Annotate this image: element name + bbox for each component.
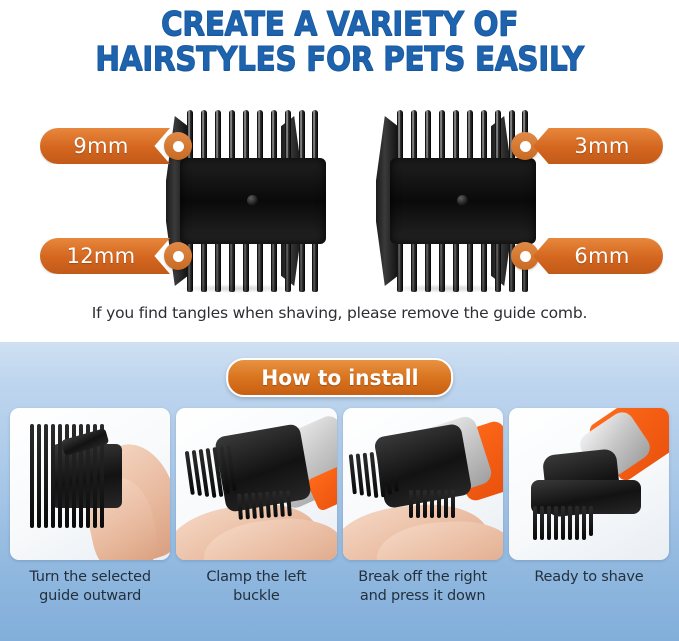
guide-comb-right [358,108,531,294]
step-photo-4 [509,408,669,560]
blade-teeth [237,490,292,520]
page-title: CREATE A VARIETY OF HAIRSTYLES FOR PETS … [0,2,679,77]
comb-center-body [390,158,536,244]
infographic-page: CREATE A VARIETY OF HAIRSTYLES FOR PETS … [0,0,679,641]
label-3mm: 3mm [511,128,663,164]
step-caption-4: Ready to shave [509,568,669,638]
photo-content [10,408,170,560]
comb-teeth [185,445,238,501]
title-line-1: CREATE A VARIETY OF [34,2,645,42]
how-to-install-label: How to install [261,366,418,390]
step-photo-2 [176,408,336,560]
comb-illustration [358,108,531,294]
comb-center-dot [247,195,258,206]
label-6mm-text: 6mm [533,238,663,274]
step-photo-1 [10,408,170,560]
install-steps-captions: Turn the selected guide outward Clamp th… [10,568,669,638]
step-caption-1: Turn the selected guide outward [10,568,170,638]
label-3mm-text: 3mm [533,128,663,164]
how-to-install-banner: How to install [226,358,454,397]
label-connector-dot-icon [164,242,192,270]
step-photo-3 [343,408,503,560]
photo-content [343,408,503,560]
comb-teeth [348,450,399,501]
label-12mm-text: 12mm [40,238,170,274]
photo-content [509,408,669,560]
label-9mm-text: 9mm [40,128,170,164]
photo-content [176,408,336,560]
blade-teeth [409,490,455,518]
label-12mm: 12mm [40,238,192,274]
comb-body [376,108,513,294]
comb-shadow [176,284,296,293]
step-caption-2: Clamp the left buckle [176,568,336,638]
install-steps-photos [10,408,669,560]
comb-teeth [533,506,593,540]
comb-center-dot [457,195,468,206]
label-6mm: 6mm [511,238,663,274]
title-line-2: HAIRSTYLES FOR PETS EASILY [34,42,645,77]
comb-shadow [386,284,506,293]
label-9mm: 9mm [40,128,192,164]
step-caption-3: Break off the right and press it down [343,568,503,638]
comb-center-body [180,158,326,244]
tangle-note: If you find tangles when shaving, please… [0,304,679,322]
label-connector-dot-icon [164,132,192,160]
